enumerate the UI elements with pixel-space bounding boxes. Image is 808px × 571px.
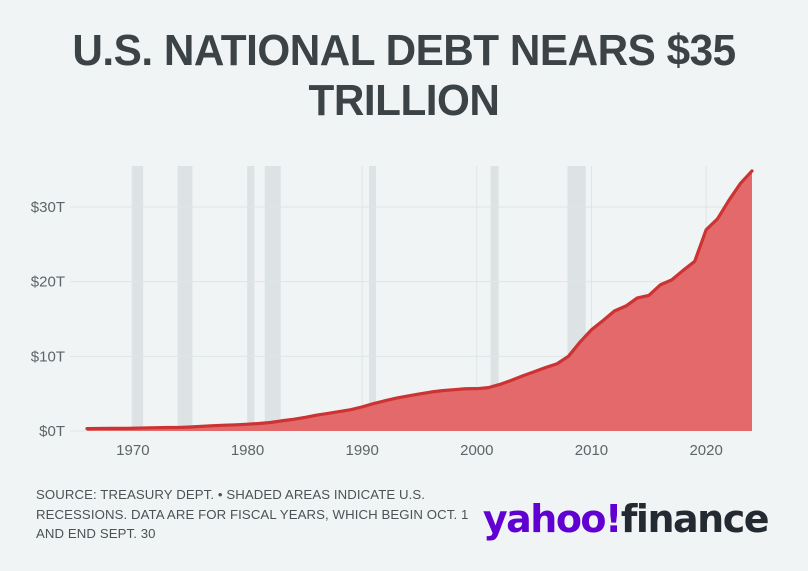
chart-container: $0T$10T$20T$30T 197019801990200020102020 bbox=[0, 140, 808, 480]
x-axis-tick-label: 1990 bbox=[345, 442, 378, 459]
y-axis-tick-label: $10T bbox=[31, 348, 65, 365]
recession-band bbox=[265, 166, 281, 431]
logo-exclamation-icon: ! bbox=[605, 497, 621, 541]
recession-band bbox=[178, 166, 193, 431]
recession-band bbox=[248, 166, 255, 431]
recession-band bbox=[369, 166, 376, 431]
y-axis-labels: $0T$10T$20T$30T bbox=[31, 199, 87, 440]
yahoo-finance-logo[interactable]: yahoo!finance bbox=[483, 497, 768, 541]
y-axis-tick-label: $20T bbox=[31, 274, 65, 291]
x-axis-tick-label: 1980 bbox=[231, 442, 264, 459]
logo-product-text: finance bbox=[621, 497, 768, 541]
page-title: U.S. NATIONAL DEBT NEARS $35 TRILLION bbox=[49, 26, 759, 126]
chart-page: U.S. NATIONAL DEBT NEARS $35 TRILLION $0… bbox=[0, 0, 808, 571]
recession-band bbox=[132, 166, 143, 431]
x-axis-tick-label: 2000 bbox=[460, 442, 493, 459]
x-axis-tick-label: 1970 bbox=[116, 442, 149, 459]
debt-area-chart: $0T$10T$20T$30T 197019801990200020102020 bbox=[0, 140, 808, 480]
page-title-block: U.S. NATIONAL DEBT NEARS $35 TRILLION bbox=[0, 26, 808, 126]
chart-footer: SOURCE: TREASURY DEPT. • SHADED AREAS IN… bbox=[0, 481, 808, 571]
x-axis-tick-label: 2010 bbox=[575, 442, 608, 459]
logo-brand-text: yahoo bbox=[483, 497, 605, 541]
y-axis-tick-label: $30T bbox=[31, 199, 65, 216]
x-axis-labels: 197019801990200020102020 bbox=[116, 442, 723, 459]
x-axis-tick-label: 2020 bbox=[689, 442, 722, 459]
source-note: SOURCE: TREASURY DEPT. • SHADED AREAS IN… bbox=[36, 485, 486, 544]
y-axis-tick-label: $0T bbox=[39, 423, 65, 440]
